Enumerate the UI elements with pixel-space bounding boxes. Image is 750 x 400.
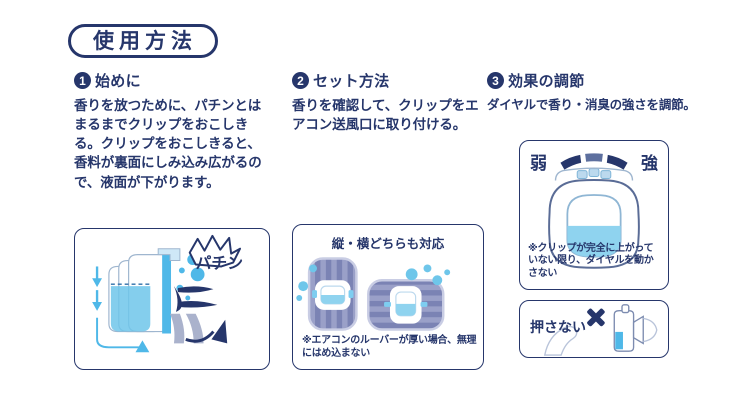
page-title: 使用方法 [68, 24, 218, 58]
step-3-number: 3 [487, 72, 504, 89]
step-2-illustration: 縦・横どちらも対応 [292, 224, 484, 370]
louver-vertical [309, 259, 356, 330]
liquid-fill [111, 286, 150, 331]
step-2-body: 香りを確認して、クリップをエアコン送風口に取り付ける。 [292, 96, 487, 134]
step-1-illustration: パチン [74, 228, 270, 370]
step-1-number: 1 [74, 72, 91, 89]
step-3-column: 3 効果の調節 ダイヤルで香り・消臭の強さを調節。 [487, 70, 697, 114]
snap-sound-text: パチン [196, 254, 243, 272]
cross-mark [586, 308, 605, 327]
step-1-column: 1 始めに 香りを放つために、パチンとはまるまでクリップをおこしきる。クリップを… [74, 70, 264, 192]
step-2-number: 2 [292, 72, 309, 89]
device-liquid [615, 332, 623, 349]
arrow-down-2 [92, 302, 102, 311]
step-3-body: ダイヤルで香り・消臭の強さを調節。 [487, 96, 697, 114]
device-side-view [614, 305, 643, 351]
clip-arm-outline [643, 318, 657, 341]
louver-horizontal [368, 280, 443, 329]
step-3-warning-illustration: 押さない [519, 300, 669, 358]
step-1-heading: 1 始めに [74, 70, 264, 91]
dial-label-strong: 強 [641, 149, 658, 174]
step-3-title: 効果の調節 [508, 70, 585, 91]
clip-arm-navy [174, 286, 217, 312]
step-3-dial-illustration: 弱 強 ※クリップが完全に上がっていない限り、ダイヤルを動かさない [519, 140, 669, 290]
device-edge-strip [162, 251, 171, 334]
do-not-press-label: 押さない [530, 317, 586, 337]
dial-segments [577, 169, 611, 179]
step-1-body: 香りを放つために、パチンとはまるまでクリップをおこしきる。クリップをおこしきると… [74, 96, 264, 192]
step-3-dial-note: ※クリップが完全に上がっていない限り、ダイヤルを動かさない [528, 243, 662, 281]
step-2-illustration-caption: 縦・横どちらも対応 [293, 233, 483, 252]
dial-arc [556, 168, 633, 180]
dial-scale-bars [560, 153, 627, 169]
step-2-column: 2 セット方法 香りを確認して、クリップをエアコン送風口に取り付ける。 [292, 70, 487, 134]
step-1-title: 始めに [95, 70, 141, 91]
arrow-down-1 [92, 278, 102, 287]
step-2-illustration-note: ※エアコンのルーバーが厚い場合、無理にはめ込まない [302, 335, 477, 361]
arrow-up-right [211, 320, 227, 344]
step-3-heading: 3 効果の調節 [487, 70, 697, 91]
step-2-title: セット方法 [313, 70, 390, 91]
instruction-sheet: 使用方法 1 始めに 香りを放つために、パチンとはまるまでクリップをおこしきる。… [0, 0, 750, 400]
step-2-heading: 2 セット方法 [292, 70, 487, 91]
dial-label-weak: 弱 [530, 149, 547, 174]
page-title-text: 使用方法 [89, 31, 197, 52]
fragrance-droplets [296, 264, 450, 300]
